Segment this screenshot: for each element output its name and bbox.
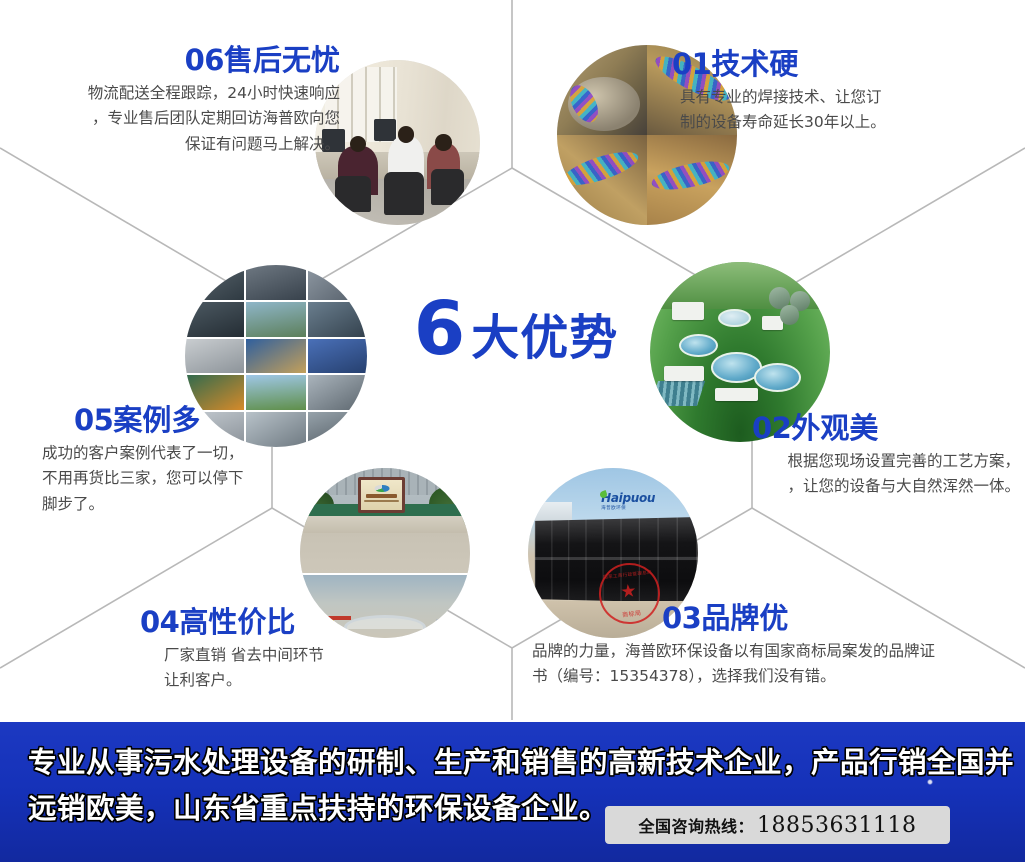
advantage-block-06: 06售后无忧 物流配送全程跟踪，24小时快速响应 ，专业售后团队定期回访海普欧向… [10,44,340,157]
hotline-number[interactable]: 18853631118 [757,813,916,838]
plant-building-1 [672,302,704,320]
advantage-04-number: 04 [140,605,179,639]
advantage-02-desc-line: 根据您现场设置完善的工艺方案， [700,449,1020,474]
advantage-05-label: 案例多 [113,403,200,437]
haipuou-logo-text: Haipuou [601,492,655,504]
center-headline: 6 大优势 [396,292,636,372]
signboard-line-1 [366,494,398,498]
factory-signboard-photo [300,468,470,573]
advantage-06-desc-line: 物流配送全程跟踪，24小时快速响应 [10,81,340,106]
advantage-06-desc-line: 保证有问题马上解决。 [10,132,340,157]
advantage-05-title: 05案例多 [20,404,320,437]
clarifier-4 [718,309,750,327]
advantage-03-number: 03 [662,601,701,635]
office-chair-2 [384,172,424,215]
advantage-05-desc-line: 脚步了。 [42,492,320,517]
advantage-06-desc-line: ，专业售后团队定期回访海普欧向您 [10,106,340,131]
advantage-02-number: 02 [752,411,791,445]
advantage-05-desc-line: 不用再货比三家，您可以停下 [42,466,320,491]
advantage-05-number: 05 [74,403,113,437]
center-text: 大优势 [471,314,618,362]
advantage-01-desc-line: 制的设备寿命延长30年以上。 [680,110,1002,135]
advantage-block-01: 01技术硬 具有专业的焊接技术、让您订 制的设备寿命延长30年以上。 [672,48,1002,136]
advantage-01-desc: 具有专业的焊接技术、让您订 制的设备寿命延长30年以上。 [680,85,1002,135]
person-3-head [435,134,452,151]
advantage-block-05: 05案例多 成功的客户案例代表了一切， 不用再货比三家，您可以停下 脚步了。 [20,404,320,517]
monitor-2 [374,119,395,140]
case-cell [246,302,305,337]
person-2-head [398,126,415,143]
banner-slogan-line-1: 专业从事污水处理设备的研制、生产和销售的高新技术企业，产品行销全国并 [28,740,908,786]
advantage-06-label: 售后无忧 [224,43,340,77]
office-chair-1 [335,176,371,212]
advantage-04-label: 高性价比 [179,605,295,639]
advantage-02-desc-line: ，让您的设备与大自然浑然一体。 [700,474,1020,499]
advantage-02-title: 02外观美 [700,412,1020,445]
advantage-01-number: 01 [672,47,711,81]
advantage-02-desc: 根据您现场设置完善的工艺方案， ，让您的设备与大自然浑然一体。 [700,449,1020,499]
advantage-06-desc: 物流配送全程跟踪，24小时快速响应 ，专业售后团队定期回访海普欧向您 保证有问题… [10,81,340,156]
advantage-03-title: 03品牌优 [532,602,1012,635]
plant-building-2 [664,366,704,380]
case-cell [185,339,244,374]
advantage-03-desc-line: 品牌的力量，海普欧环保设备以有国家商标局案发的品牌证 [532,639,1012,664]
advantage-01-label: 技术硬 [711,47,798,81]
advantage-block-04: 04高性价比 厂家直销 省去中间环节 让利客户。 [140,606,460,694]
office-chair-3 [431,169,464,205]
advantage-06-title: 06售后无忧 [10,44,340,77]
company-signboard [358,477,406,513]
hotline-label: 全国咨询热线： [639,813,755,837]
advantage-04-desc: 厂家直销 省去中间环节 让利客户。 [164,643,460,693]
advantage-04-desc-line: 厂家直销 省去中间环节 [164,643,460,668]
stamp-top-text: 国家工商行政管理总局 [599,569,657,581]
settling-beds [650,381,704,406]
hotline-box[interactable]: 全国咨询热线： 18853631118 [605,806,950,844]
advantage-01-desc-line: 具有专业的焊接技术、让您订 [680,85,1002,110]
case-cell [185,302,244,337]
case-cell [308,265,367,300]
factory-yard [300,516,470,533]
case-cell [308,339,367,374]
haipuou-logo: Haipuou 海普欧环保 [601,490,676,512]
advantage-05-desc: 成功的客户案例代表了一切， 不用再货比三家，您可以停下 脚步了。 [42,441,320,516]
signboard-line-2 [364,500,399,502]
advantage-03-label: 品牌优 [701,601,788,635]
advantage-04-desc-line: 让利客户。 [164,668,460,693]
clarifier-3 [754,363,801,392]
haipuou-logo-sub: 海普欧环保 [601,505,626,511]
clarifier-1 [679,334,719,357]
advantage-03-desc: 品牌的力量，海普欧环保设备以有国家商标局案发的品牌证 书（编号：15354378… [532,639,1012,689]
advantage-05-desc-line: 成功的客户案例代表了一切， [42,441,320,466]
case-cell [185,265,244,300]
company-emblem-icon [374,485,389,493]
plant-building-3 [715,388,758,401]
advantage-block-03: 03品牌优 品牌的力量，海普欧环保设备以有国家商标局案发的品牌证 书（编号：15… [532,602,1012,690]
case-cell [246,339,305,374]
advantage-06-number: 06 [185,43,224,77]
advantage-04-title: 04高性价比 [140,606,460,639]
case-cell [246,265,305,300]
infographic-page: 6 大优势 [0,0,1025,862]
case-cell [308,302,367,337]
advantage-02-label: 外观美 [791,411,878,445]
center-number: 6 [414,292,464,366]
advantage-01-title: 01技术硬 [672,48,1002,81]
advantage-block-02: 02外观美 根据您现场设置完善的工艺方案， ，让您的设备与大自然浑然一体。 [700,412,1020,500]
digester-tank-3 [780,305,800,325]
advantage-03-desc-line: 书（编号：15354378），选择我们没有错。 [532,664,1012,689]
